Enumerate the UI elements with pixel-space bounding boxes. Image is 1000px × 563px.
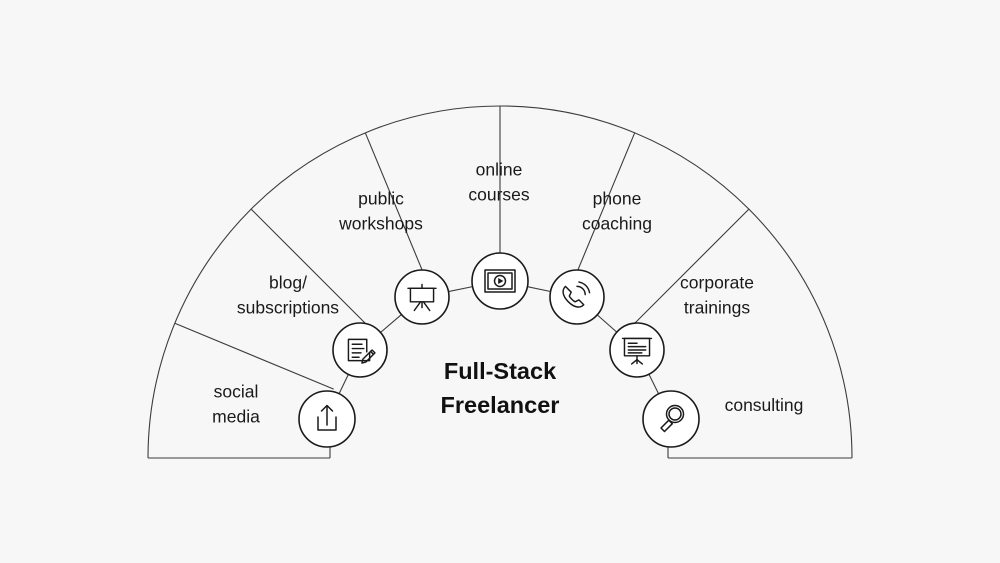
radial-sector-diagram: socialmediablog/subscriptionspublicworks… <box>0 0 1000 563</box>
online-courses-node[interactable] <box>472 253 528 309</box>
sector-label-public-workshops: publicworkshops <box>338 188 423 233</box>
sector-label-social-media: socialmedia <box>212 381 260 426</box>
sector-label-line: online <box>476 159 523 179</box>
sector-label-line: blog/ <box>269 272 307 292</box>
public-workshops-node[interactable] <box>395 270 449 324</box>
node-connector-1 <box>381 315 402 333</box>
sector-label-phone-coaching: phonecoaching <box>582 188 652 233</box>
sector-divider-blog-subscriptions <box>175 323 334 389</box>
sector-label-corporate-trainings: corporatetrainings <box>680 272 754 317</box>
social-media-node[interactable] <box>299 391 355 447</box>
page-title-line2: Freelancer <box>441 392 560 418</box>
sector-label-consulting: consulting <box>725 395 804 415</box>
sector-label-line: phone <box>593 188 642 208</box>
page-title-line1: Full-Stack <box>444 358 557 384</box>
sector-label-line: media <box>212 406 260 426</box>
node-connector-0 <box>339 374 348 393</box>
node-connector-5 <box>649 374 659 394</box>
sector-label-line: workshops <box>338 213 423 233</box>
center-title-group: Full-Stack Freelancer <box>441 358 560 418</box>
blog-subscriptions-node[interactable] <box>333 323 387 377</box>
public-workshops-node-circle[interactable] <box>395 270 449 324</box>
sector-label-line: corporate <box>680 272 754 292</box>
corporate-trainings-node[interactable] <box>610 323 664 377</box>
node-connector-2 <box>448 287 472 292</box>
node-connector-3 <box>527 287 550 292</box>
sector-label-line: consulting <box>725 395 804 415</box>
phone-coaching-node[interactable] <box>550 270 604 324</box>
blog-subscriptions-node-circle[interactable] <box>333 323 387 377</box>
sector-label-line: trainings <box>684 297 750 317</box>
sector-label-line: coaching <box>582 213 652 233</box>
sector-label-line: subscriptions <box>237 297 339 317</box>
node-connector-4 <box>597 315 617 332</box>
sector-label-line: public <box>358 188 404 208</box>
phone-coaching-node-circle[interactable] <box>550 270 604 324</box>
sector-label-line: courses <box>468 184 530 204</box>
diagram-canvas: socialmediablog/subscriptionspublicworks… <box>0 0 1000 563</box>
consulting-node[interactable] <box>643 391 699 447</box>
sector-label-line: social <box>214 381 259 401</box>
sector-label-blog-subscriptions: blog/subscriptions <box>237 272 339 317</box>
sector-label-online-courses: onlinecourses <box>468 159 530 204</box>
